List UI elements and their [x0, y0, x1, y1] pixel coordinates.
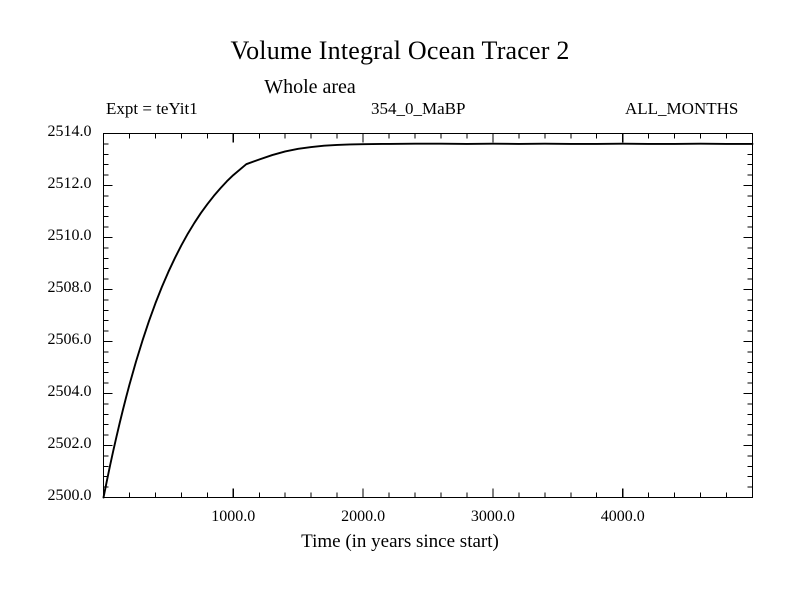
x-tick-label: 3000.0: [433, 508, 553, 526]
y-tick-label: 2514.0: [18, 123, 92, 141]
data-series-line: [104, 144, 753, 498]
y-tick-label: 2512.0: [18, 175, 92, 193]
axes-frame: [104, 134, 753, 498]
x-tick-label: 1000.0: [173, 508, 293, 526]
y-tick-label: 2502.0: [18, 435, 92, 453]
y-tick-label: 2504.0: [18, 383, 92, 401]
x-tick-label: 4000.0: [563, 508, 683, 526]
y-tick-label: 2500.0: [18, 487, 92, 505]
x-tick-label: 2000.0: [303, 508, 423, 526]
figure-canvas: Volume Integral Ocean Tracer 2 Whole are…: [0, 0, 800, 600]
y-tick-label: 2508.0: [18, 279, 92, 297]
axis-ticks: [104, 134, 753, 498]
y-tick-label: 2510.0: [18, 227, 92, 245]
y-tick-label: 2506.0: [18, 331, 92, 349]
